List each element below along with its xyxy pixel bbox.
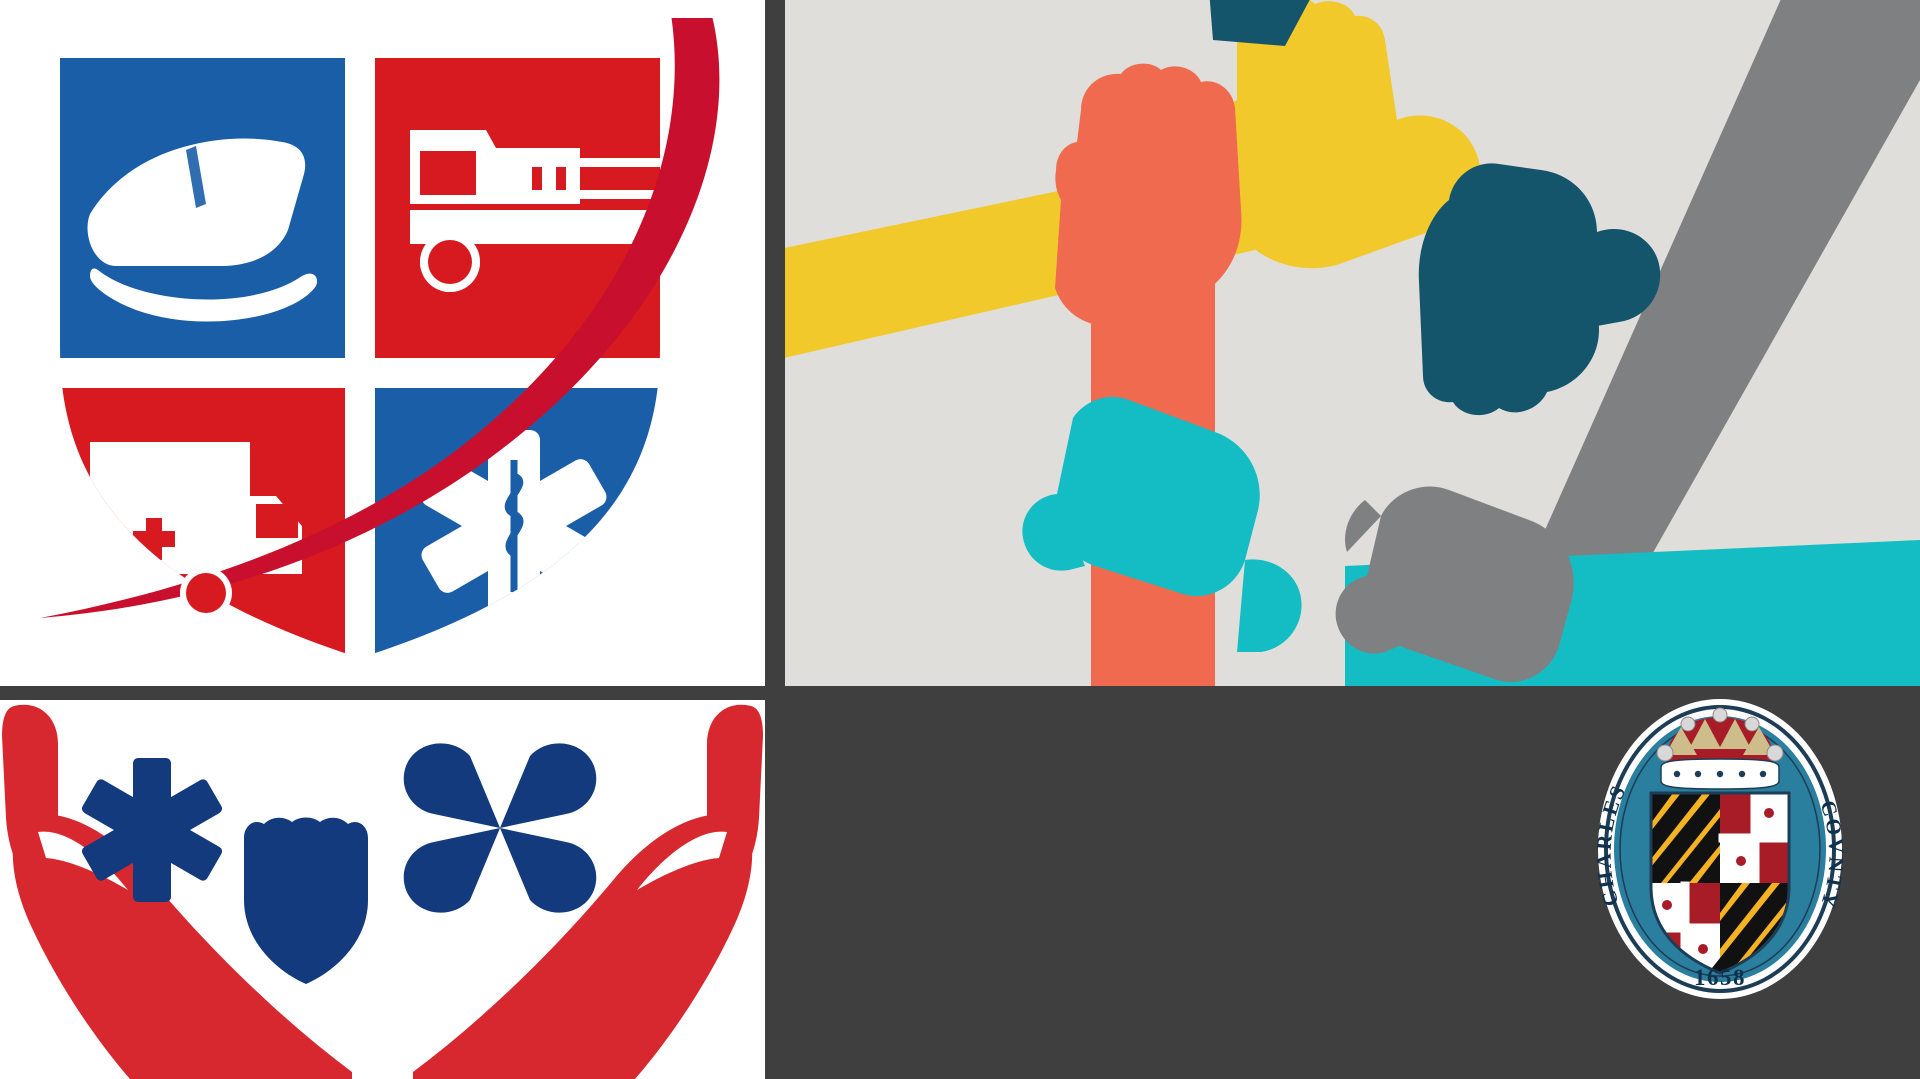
unity-fists-panel bbox=[785, 0, 1920, 686]
first-responder-shield-panel bbox=[0, 0, 765, 686]
charles-county-seal-icon: CHARLES COVNTY bbox=[1595, 697, 1845, 1002]
seal-year: 1658 bbox=[1694, 965, 1746, 990]
first-responder-quadrant-shield-icon bbox=[20, 18, 740, 678]
cupped-hands-holding-emblems-icon bbox=[0, 700, 765, 1079]
four-interlocking-fists-icon bbox=[785, 0, 1920, 686]
cupped-hands-panel bbox=[0, 700, 765, 1079]
poster-root: First Responder Peer Support Want to tal… bbox=[0, 0, 1920, 1079]
